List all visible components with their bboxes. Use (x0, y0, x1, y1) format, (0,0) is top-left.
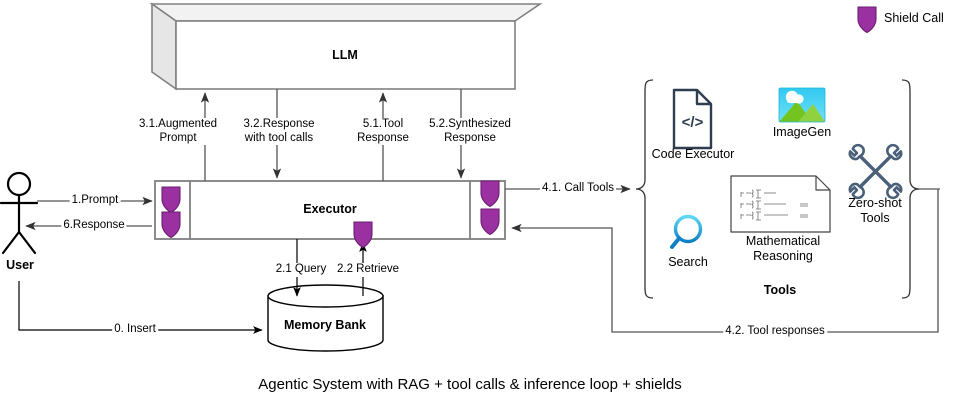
memory-bank-label: Memory Bank (284, 318, 366, 333)
shield-icon-memory (354, 222, 372, 248)
formula-document-icon (731, 176, 830, 232)
tool-label-imagegen: ImageGen (773, 125, 831, 140)
executor-label: Executor (303, 202, 357, 217)
crossed-wrenches-icon (850, 145, 901, 198)
diagram-svg: </> (0, 0, 970, 411)
edge-label-prompt: 1.Prompt (70, 194, 121, 208)
tools-group-title: Tools (764, 283, 796, 298)
magnifier-icon (672, 217, 701, 248)
user-label: User (6, 258, 34, 273)
llm-node (152, 4, 540, 89)
tool-label-code-executor: Code Executor (652, 147, 735, 162)
legend-shield-label: Shield Call (884, 11, 944, 26)
svg-text:</>: </> (682, 114, 704, 131)
tool-label-search: Search (668, 255, 708, 270)
edge-label-query: 2.1 Query (274, 263, 329, 277)
tool-label-zero-shot-tools: Zero-shot Tools (848, 196, 902, 226)
edge-label-augmented-prompt: 3.1.Augmented Prompt (137, 118, 219, 145)
brace-right (902, 80, 919, 298)
diagram-caption: Agentic System with RAG + tool calls & i… (258, 376, 682, 394)
image-picture-icon (779, 88, 825, 122)
edge-label-retrieve: 2.2 Retrieve (335, 263, 401, 277)
brace-left (636, 80, 653, 298)
llm-label: LLM (332, 48, 358, 63)
tool-label-mathematical-reasoning: Mathematical Reasoning (746, 234, 820, 264)
shield-icon-legend (858, 7, 876, 33)
edge-label-call-tools: 4.1. Call Tools (540, 182, 616, 196)
edge-label-response-with-tool-calls: 3.2.Response with tool calls (242, 118, 317, 145)
edge-label-synthesized-response: 5.2.Synthesized Response (427, 118, 513, 145)
user-node (1, 173, 37, 253)
edge-label-tool-response: 5.1.Tool Response (355, 118, 411, 145)
edge-label-insert: 0. Insert (112, 323, 158, 337)
diagram-canvas: </> (0, 0, 970, 411)
code-document-icon: </> (674, 90, 711, 148)
edge-label-response: 6.Response (61, 219, 126, 233)
edge-label-tool-responses: 4.2. Tool responses (723, 325, 827, 339)
